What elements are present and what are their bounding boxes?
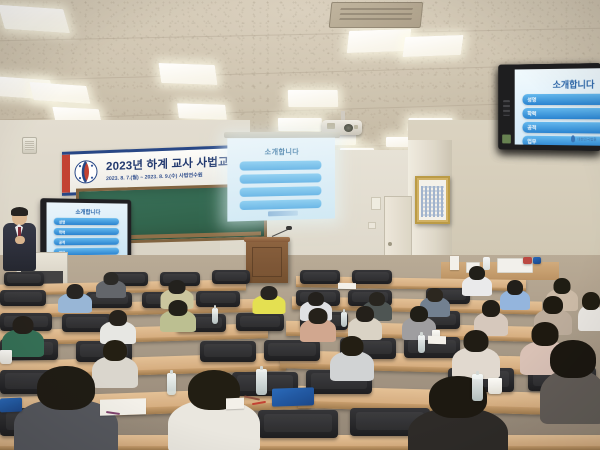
ceiling-monitor-screen: 소개합니다 성명 학력 공적 업무 대한민국법원 bbox=[515, 68, 600, 146]
supply-item-red bbox=[523, 257, 532, 264]
ceiling-light bbox=[0, 5, 70, 33]
presenter-hands bbox=[15, 236, 25, 244]
presenter-hair bbox=[11, 207, 28, 216]
slide-item-bar: 학력 bbox=[522, 108, 600, 119]
attendee bbox=[2, 316, 44, 352]
handout-paper bbox=[428, 336, 446, 344]
chair[interactable] bbox=[236, 313, 284, 331]
attendee bbox=[300, 308, 336, 338]
ceiling-light bbox=[158, 63, 217, 85]
projection-slide-bar bbox=[240, 161, 322, 171]
chair[interactable] bbox=[258, 410, 338, 438]
korea-emblem-icon bbox=[72, 157, 100, 186]
pencil-pouch bbox=[272, 387, 314, 406]
wall-speaker bbox=[22, 137, 37, 154]
monitor-power-led bbox=[502, 135, 511, 144]
attendee bbox=[452, 330, 500, 374]
attendee bbox=[330, 336, 374, 376]
light-switch[interactable] bbox=[371, 197, 381, 210]
water-bottle bbox=[418, 335, 425, 353]
projection-slide-bar bbox=[240, 173, 322, 183]
framed-wall-chart bbox=[415, 176, 450, 224]
banner-title: 2023년 하계 교사 사법교육 bbox=[106, 153, 240, 174]
attendee-foreground bbox=[168, 370, 260, 450]
slide-item-label: 공적 bbox=[527, 124, 536, 131]
paper-cup bbox=[0, 350, 12, 364]
attendee bbox=[100, 310, 136, 340]
attendee bbox=[462, 266, 492, 294]
chair[interactable] bbox=[0, 290, 46, 306]
door-knob bbox=[388, 242, 392, 246]
chair[interactable] bbox=[196, 291, 240, 307]
attendee bbox=[578, 292, 600, 326]
lecture-hall-photo: 2023년 하계 교사 사법교육 2023. 8. 7.(월) ~ 2023. … bbox=[0, 0, 600, 450]
attendee bbox=[474, 300, 508, 332]
chair[interactable] bbox=[212, 270, 250, 284]
chair[interactable] bbox=[200, 341, 256, 362]
water-bottle bbox=[341, 312, 347, 327]
handout-paper bbox=[226, 398, 244, 410]
slide-item-label: 성명 bbox=[527, 96, 536, 103]
attendee bbox=[160, 300, 196, 328]
wall-outlet bbox=[368, 222, 376, 229]
podium bbox=[246, 237, 288, 283]
chair[interactable] bbox=[352, 270, 392, 284]
banner-accent-stripe bbox=[62, 155, 70, 193]
supply-notice bbox=[450, 256, 459, 270]
slide-item-label: 학력 bbox=[527, 110, 536, 117]
slide-logo-text: 대한민국법원 bbox=[577, 136, 596, 141]
chair[interactable] bbox=[264, 340, 320, 361]
slide-logo: 대한민국법원 bbox=[571, 135, 596, 142]
pencil-pouch bbox=[0, 398, 22, 413]
front-projection-screen: 소개합니다 bbox=[227, 138, 335, 222]
ceiling-air-vent bbox=[329, 2, 424, 28]
slide-title: 소개합니다 bbox=[515, 77, 595, 91]
projection-slide-bar bbox=[240, 199, 322, 210]
presenter bbox=[2, 208, 36, 270]
water-bottle bbox=[212, 308, 218, 324]
ceiling-light bbox=[347, 29, 412, 53]
slide-item-bar: 성명 bbox=[522, 94, 600, 105]
slide-item-bar: 공적 bbox=[522, 122, 600, 134]
projection-logo bbox=[268, 211, 298, 217]
water-bottle bbox=[256, 369, 267, 395]
attendee bbox=[252, 286, 285, 311]
paper-cup bbox=[488, 378, 502, 394]
chair[interactable] bbox=[300, 270, 340, 284]
slide-item-label: 업무 bbox=[527, 138, 536, 145]
podium-microphone bbox=[272, 222, 294, 238]
ceiling-light bbox=[402, 35, 463, 57]
court-emblem-icon bbox=[571, 135, 575, 142]
supply-item-blue bbox=[533, 257, 541, 264]
water-bottle bbox=[472, 374, 483, 401]
ceiling-light bbox=[177, 103, 227, 120]
ceiling-monitor-right: 소개합니다 성명 학력 공적 업무 대한민국법원 bbox=[498, 63, 600, 151]
ceiling-light bbox=[278, 118, 322, 131]
projection-slide-title: 소개합니다 bbox=[227, 147, 335, 158]
attendee bbox=[402, 306, 436, 336]
ceiling-light bbox=[288, 90, 339, 107]
podium-panel bbox=[252, 247, 282, 277]
attendee bbox=[96, 272, 126, 296]
attendee bbox=[58, 284, 92, 310]
water-bottle bbox=[167, 373, 176, 395]
projection-slide-bar bbox=[240, 186, 322, 197]
handout-paper bbox=[338, 283, 356, 289]
attendee bbox=[348, 306, 382, 336]
monitor-buttons[interactable] bbox=[503, 100, 510, 116]
chair[interactable] bbox=[4, 272, 44, 286]
attendee-foreground bbox=[540, 340, 600, 420]
